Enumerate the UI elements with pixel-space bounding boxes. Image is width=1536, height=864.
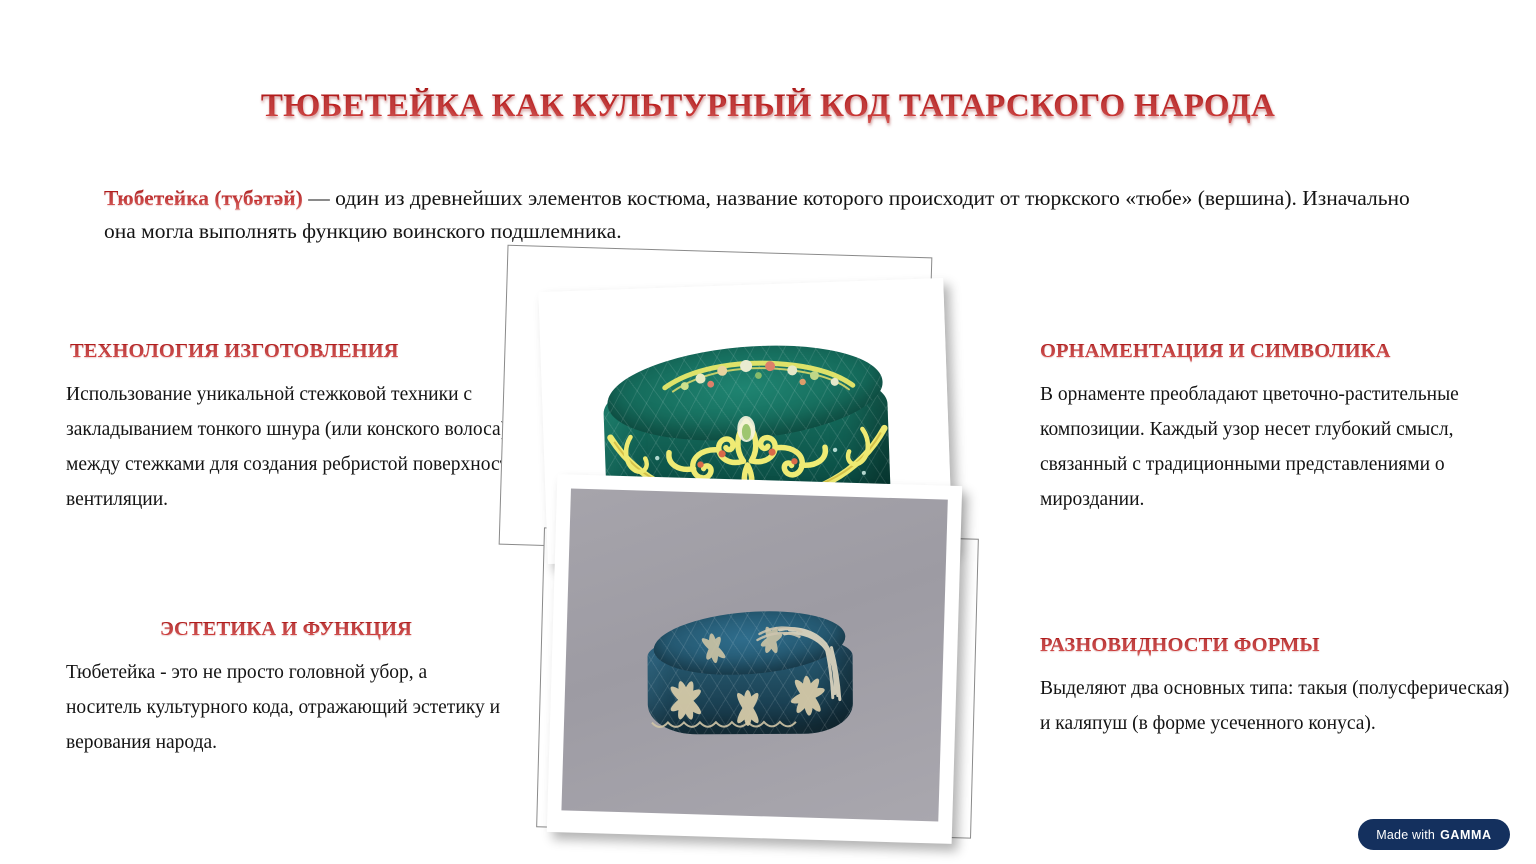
photo-card-blue-takiya[interactable] bbox=[547, 474, 962, 844]
block-body-ornament: В орнаменте преобладают цветочно-растите… bbox=[1040, 377, 1520, 517]
badge-brand-label: GAMMA bbox=[1440, 828, 1492, 842]
photo-stack bbox=[495, 245, 975, 845]
block-heading-ornament: ОРНАМЕНТАЦИЯ И СИМВОЛИКА bbox=[1040, 340, 1520, 363]
hat-blue-tassel bbox=[629, 595, 880, 746]
text-block-aesthetics: ЭСТЕТИКА И ФУНКЦИЯ Тюбетейка - это не пр… bbox=[66, 618, 506, 760]
badge-prefix-label: Made with bbox=[1376, 828, 1435, 842]
block-body-forms: Выделяют два основных типа: такыя (полус… bbox=[1040, 671, 1510, 741]
intro-lead-term: Тюбетейка (түбәтәй) bbox=[104, 186, 303, 210]
page-title: ТЮБЕТЕЙКА КАК КУЛЬТУРНЫЙ КОД ТАТАРСКОГО … bbox=[0, 88, 1536, 125]
text-block-technology: ТЕХНОЛОГИЯ ИЗГОТОВЛЕНИЯ Использование ун… bbox=[66, 340, 556, 517]
block-body-aesthetics: Тюбетейка - это не просто головной убор,… bbox=[66, 655, 506, 760]
block-heading-forms: РАЗНОВИДНОСТИ ФОРМЫ bbox=[1040, 634, 1510, 657]
block-heading-technology: ТЕХНОЛОГИЯ ИЗГОТОВЛЕНИЯ bbox=[70, 340, 556, 363]
block-body-technology: Использование уникальной стежковой техни… bbox=[66, 377, 556, 517]
tubeteika-blue-illustration bbox=[629, 595, 880, 746]
intro-paragraph: Тюбетейка (түбәтәй) — один из древнейших… bbox=[104, 182, 1434, 248]
text-block-forms: РАЗНОВИДНОСТИ ФОРМЫ Выделяют два основны… bbox=[1040, 634, 1510, 741]
block-heading-aesthetics: ЭСТЕТИКА И ФУНКЦИЯ bbox=[66, 618, 506, 641]
photo-blue-takiya bbox=[561, 488, 947, 821]
slide-canvas: ТЮБЕТЕЙКА КАК КУЛЬТУРНЫЙ КОД ТАТАРСКОГО … bbox=[0, 0, 1536, 864]
text-block-ornament: ОРНАМЕНТАЦИЯ И СИМВОЛИКА В орнаменте пре… bbox=[1040, 340, 1520, 517]
made-with-gamma-badge[interactable]: Made with GAMMA bbox=[1358, 819, 1510, 850]
